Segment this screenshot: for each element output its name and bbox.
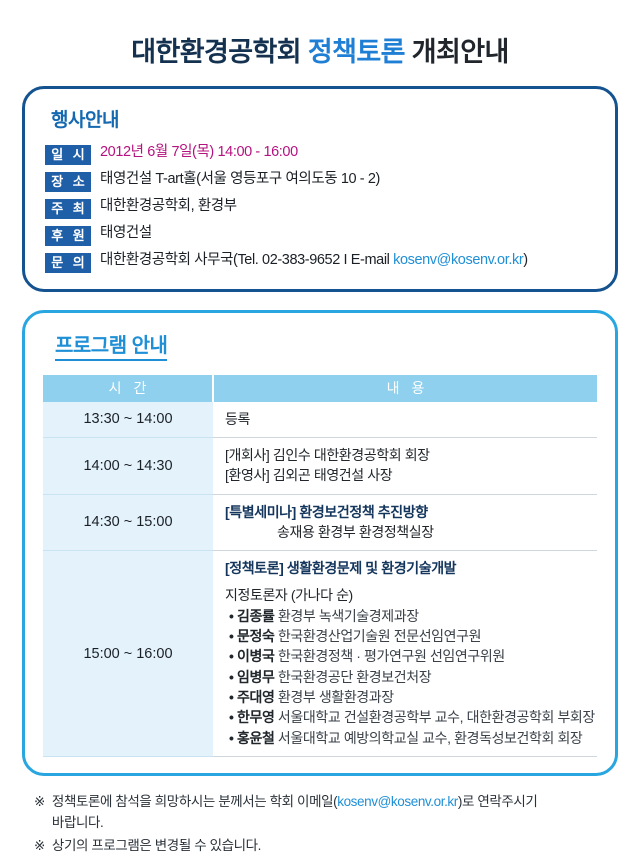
- discussant-item: • 주대영 환경부 생활환경과장: [225, 687, 591, 707]
- event-label-contact: 문 의: [45, 253, 91, 273]
- discussant-item: • 이병국 한국환경정책 · 평가연구원 선임연구위원: [225, 646, 591, 666]
- footnote-item: ※ 상기의 프로그램은 변경될 수 있습니다.: [34, 836, 614, 853]
- event-value-host: 대한환경공학회, 환경부: [100, 197, 237, 215]
- discussant-name: • 문정숙: [229, 628, 274, 644]
- event-info-card: 행사안내 일 시 2012년 6월 7일(목) 14:00 - 16:00 장 …: [22, 86, 618, 292]
- footnote-continuation: 바랍니다.: [52, 813, 614, 834]
- event-label-venue: 장 소: [45, 172, 91, 192]
- table-row: 14:30 ~ 15:00 [특별세미나] 환경보건정책 추진방향 송재용 환경…: [43, 494, 597, 551]
- discussant-item: • 문정숙 한국환경산업기술원 전문선임연구원: [225, 626, 591, 646]
- footnote-text: 정책토론에 참석을 희망하시는 분께서는 학회 이메일(kosenv@kosen…: [52, 792, 614, 834]
- discussant-name: • 임병무: [229, 669, 274, 685]
- title-part-topic: 정책토론: [308, 37, 405, 67]
- discussant-org: 환경부 생활환경과장: [274, 689, 393, 705]
- discussant-org: 환경부 녹색기술경제과장: [274, 608, 418, 624]
- discussant-item: • 김종률 환경부 녹색기술경제과장: [225, 606, 591, 626]
- cell-time: 14:00 ~ 14:30: [43, 437, 213, 494]
- event-label-host: 주 최: [45, 199, 91, 219]
- content-line-title: [정책토론] 생활환경문제 및 환경기술개발: [225, 558, 591, 578]
- discussant-item: • 임병무 한국환경공단 환경보건처장: [225, 667, 591, 687]
- content-line: 등록: [225, 409, 591, 429]
- event-value-venue: 태영건설 T-art홀(서울 영등포구 여의도동 10 - 2): [100, 170, 380, 188]
- event-info-heading: 행사안내: [51, 105, 595, 132]
- footnote-post: )로 연락주시기: [458, 794, 538, 809]
- table-row: 15:00 ~ 16:00 [정책토론] 생활환경문제 및 환경기술개발 지정토…: [43, 551, 597, 757]
- cell-content: [정책토론] 생활환경문제 및 환경기술개발 지정토론자 (가나다 순) • 김…: [213, 551, 597, 757]
- event-value-datetime: 2012년 6월 7일(목) 14:00 - 16:00: [100, 143, 298, 161]
- discussant-org: 한국환경공단 환경보건처장: [274, 669, 431, 685]
- footnote-text: 상기의 프로그램은 변경될 수 있습니다.: [52, 836, 614, 853]
- event-value-contact: 대한환경공학회 사무국(Tel. 02-383-9652 I E-mail ko…: [100, 251, 528, 269]
- discussant-item: • 홍윤철 서울대학교 예방의학교실 교수, 환경독성보건학회 회장: [225, 728, 591, 748]
- discussant-org: 한국환경정책 · 평가연구원 선임연구위원: [274, 648, 504, 664]
- title-part-organization: 대한환경공학회: [131, 37, 301, 67]
- content-line-title: [특별세미나] 환경보건정책 추진방향: [225, 502, 591, 522]
- event-label-datetime: 일 시: [45, 145, 91, 165]
- program-table: 시 간 내 용 13:30 ~ 14:00 등록 14:00 ~ 14:30 […: [43, 375, 597, 757]
- event-value-sponsor: 태영건설: [100, 224, 152, 242]
- column-header-content: 내 용: [213, 375, 597, 402]
- title-text: 대한환경공학회 정책토론 개최안내: [0, 38, 640, 68]
- contact-tail: ): [523, 252, 527, 268]
- program-heading: 프로그램 안내: [55, 329, 167, 361]
- content-line-subtitle: 지정토론자 (가나다 순): [225, 585, 591, 605]
- poster-page: 대한환경공학회 정책토론 개최안내 행사안내 일 시 2012년 6월 7일(목…: [0, 0, 640, 853]
- discussant-org: 서울대학교 건설환경공학부 교수, 대한환경공학회 부회장: [274, 709, 594, 725]
- event-row-datetime: 일 시 2012년 6월 7일(목) 14:00 - 16:00: [45, 143, 595, 165]
- program-table-head: 시 간 내 용: [43, 375, 597, 402]
- content-line: [환영사] 김외곤 태영건설 사장: [225, 465, 591, 485]
- contact-text: 대한환경공학회 사무국(Tel. 02-383-9652 I E-mail: [100, 252, 393, 268]
- cell-time: 13:30 ~ 14:00: [43, 402, 213, 438]
- discussant-name: • 한무영: [229, 709, 274, 725]
- program-card: 프로그램 안내 시 간 내 용 13:30 ~ 14:00 등록: [22, 310, 618, 776]
- content-line-speaker: 송재용 환경부 환경정책실장: [225, 522, 591, 542]
- event-row-venue: 장 소 태영건설 T-art홀(서울 영등포구 여의도동 10 - 2): [45, 170, 595, 192]
- event-row-host: 주 최 대한환경공학회, 환경부: [45, 197, 595, 219]
- table-row: 13:30 ~ 14:00 등록: [43, 402, 597, 438]
- page-title: 대한환경공학회 정책토론 개최안내: [0, 0, 640, 74]
- program-table-body: 13:30 ~ 14:00 등록 14:00 ~ 14:30 [개회사] 김인수…: [43, 402, 597, 757]
- footnote-email-link[interactable]: kosenv@kosenv.or.kr: [337, 794, 458, 809]
- footnotes: ※ 정책토론에 참석을 희망하시는 분께서는 학회 이메일(kosenv@kos…: [34, 792, 614, 853]
- footnote-mark-icon: ※: [34, 836, 45, 853]
- cell-content: 등록: [213, 402, 597, 438]
- contact-email-link[interactable]: kosenv@kosenv.or.kr: [393, 252, 523, 268]
- footnote-item: ※ 정책토론에 참석을 희망하시는 분께서는 학회 이메일(kosenv@kos…: [34, 792, 614, 834]
- cell-time: 14:30 ~ 15:00: [43, 494, 213, 551]
- content-line: [개회사] 김인수 대한환경공학회 회장: [225, 445, 591, 465]
- cell-content: [개회사] 김인수 대한환경공학회 회장 [환영사] 김외곤 태영건설 사장: [213, 437, 597, 494]
- footnote-pre: 상기의 프로그램은 변경될 수 있습니다.: [52, 838, 261, 853]
- discussant-name: • 김종률: [229, 608, 274, 624]
- event-row-sponsor: 후 원 태영건설: [45, 224, 595, 246]
- cell-content: [특별세미나] 환경보건정책 추진방향 송재용 환경부 환경정책실장: [213, 494, 597, 551]
- title-part-suffix: 개최안내: [412, 37, 509, 67]
- event-row-contact: 문 의 대한환경공학회 사무국(Tel. 02-383-9652 I E-mai…: [45, 251, 595, 273]
- discussant-item: • 한무영 서울대학교 건설환경공학부 교수, 대한환경공학회 부회장: [225, 707, 591, 727]
- event-label-sponsor: 후 원: [45, 226, 91, 246]
- discussant-name: • 홍윤철: [229, 730, 274, 746]
- discussant-org: 한국환경산업기술원 전문선임연구원: [274, 628, 481, 644]
- cell-time: 15:00 ~ 16:00: [43, 551, 213, 757]
- column-header-time: 시 간: [43, 375, 213, 402]
- table-header-row: 시 간 내 용: [43, 375, 597, 402]
- discussant-name: • 이병국: [229, 648, 274, 664]
- footnote-pre: 정책토론에 참석을 희망하시는 분께서는 학회 이메일(: [52, 794, 337, 809]
- discussant-org: 서울대학교 예방의학교실 교수, 환경독성보건학회 회장: [274, 730, 582, 746]
- discussant-name: • 주대영: [229, 689, 274, 705]
- table-row: 14:00 ~ 14:30 [개회사] 김인수 대한환경공학회 회장 [환영사]…: [43, 437, 597, 494]
- footnote-mark-icon: ※: [34, 792, 45, 813]
